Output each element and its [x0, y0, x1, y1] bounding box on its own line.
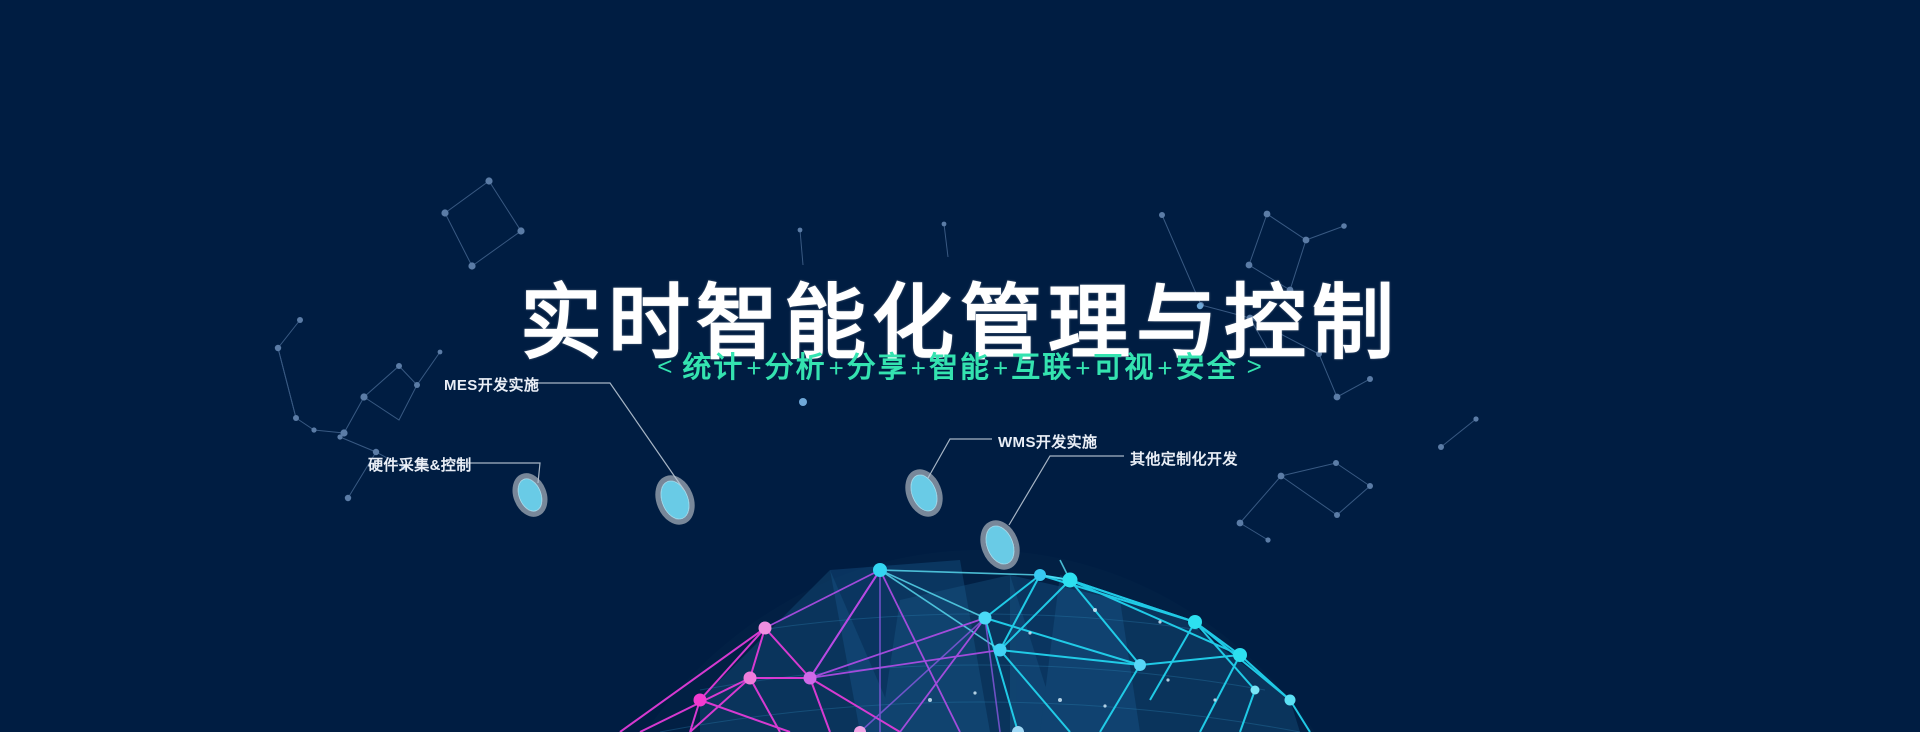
subtitle-word-4: 智能 [929, 352, 991, 384]
subtitle-plus-6: + [1155, 353, 1175, 383]
subtitle-keywords: <统计+分析+分享+智能+互联+可视+安全> [0, 344, 1920, 386]
subtitle-plus-2: + [827, 353, 847, 383]
hero-banner: 实时智能化管理与控制 <统计+分析+分享+智能+互联+可视+安全> MES开发实… [0, 0, 1920, 732]
subtitle-close-bracket: > [1238, 351, 1272, 381]
subtitle-word-1: 统计 [682, 352, 744, 384]
subtitle-open-bracket: < [648, 351, 682, 381]
subtitle-word-6: 可视 [1093, 352, 1155, 384]
subtitle-word-2: 分析 [765, 352, 827, 384]
subtitle-word-7: 安全 [1176, 352, 1238, 384]
subtitle-plus-1: + [744, 353, 764, 383]
callout-label-wms: WMS开发实施 [998, 431, 1097, 452]
subtitle-plus-4: + [991, 353, 1011, 383]
subtitle-word-5: 互联 [1011, 352, 1073, 384]
text-layer: 实时智能化管理与控制 <统计+分析+分享+智能+互联+可视+安全> MES开发实… [0, 0, 1920, 732]
callout-label-misc: 其他定制化开发 [1130, 448, 1238, 469]
callout-label-hardware: 硬件采集&控制 [368, 454, 472, 475]
subtitle-word-3: 分享 [847, 352, 909, 384]
callout-label-mes: MES开发实施 [444, 374, 539, 395]
subtitle-plus-3: + [909, 353, 929, 383]
subtitle-plus-5: + [1073, 353, 1093, 383]
